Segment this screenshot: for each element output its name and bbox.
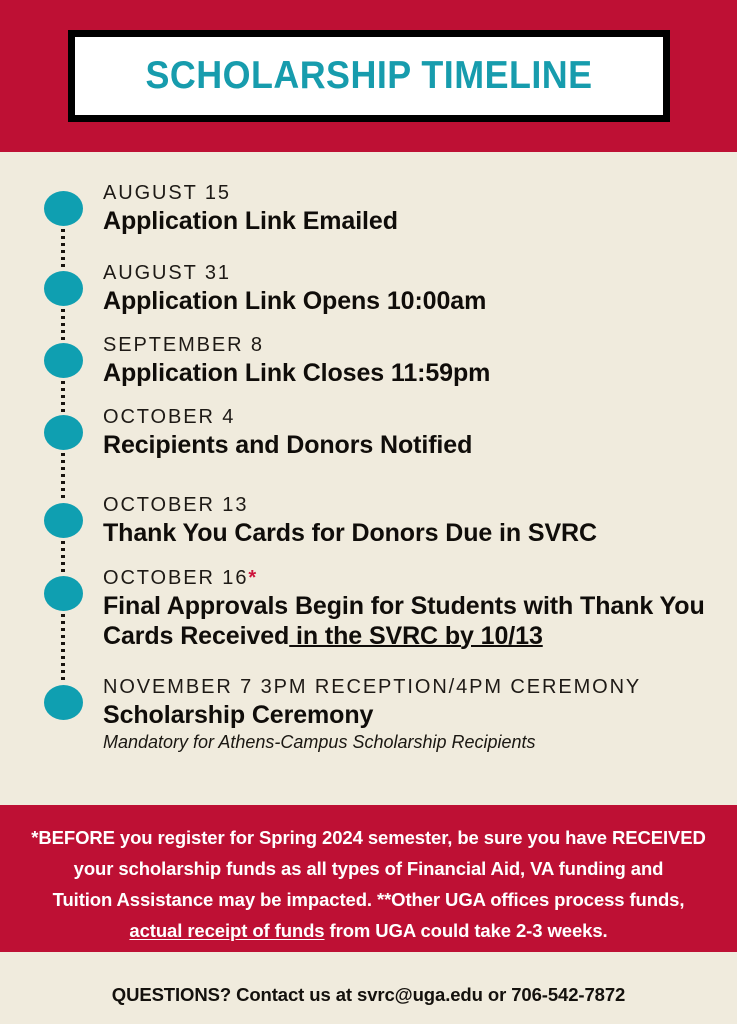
footnote-line-3: Tuition Assistance may be impacted. **Ot…: [26, 884, 711, 915]
timeline-item-title: Application Link Closes 11:59pm: [103, 358, 728, 388]
timeline-item-text: OCTOBER 4Recipients and Donors Notified: [103, 405, 728, 460]
timeline-date-asterisk: *: [248, 567, 256, 589]
timeline-item-text: NOVEMBER 7 3PM RECEPTION/4PM CEREMONYSch…: [103, 675, 728, 754]
timeline-item-title: Application Link Opens 10:00am: [103, 286, 728, 316]
timeline-item-text: OCTOBER 16*Final Approvals Begin for Stu…: [103, 566, 728, 651]
timeline-bullet-icon: [44, 685, 83, 720]
page-title: SCHOLARSHIP TIMELINE: [145, 54, 592, 98]
timeline-bullet-icon: [44, 415, 83, 450]
timeline-item-date: OCTOBER 4: [103, 405, 728, 430]
timeline-item-text: OCTOBER 13Thank You Cards for Donors Due…: [103, 493, 728, 548]
timeline-bullet-icon: [44, 503, 83, 538]
footnote-line-1: *BEFORE you register for Spring 2024 sem…: [26, 822, 711, 853]
footnote-line-4-rest: from UGA could take 2-3 weeks.: [325, 920, 608, 941]
timeline-item-text: SEPTEMBER 8Application Link Closes 11:59…: [103, 333, 728, 388]
timeline-item-date: AUGUST 31: [103, 261, 728, 286]
timeline-item-text: AUGUST 15Application Link Emailed: [103, 181, 728, 236]
timeline-list: AUGUST 15Application Link EmailedAUGUST …: [0, 152, 737, 805]
timeline-bullet-icon: [44, 191, 83, 226]
timeline-item-title: Recipients and Donors Notified: [103, 430, 728, 460]
timeline-connector: [61, 229, 65, 268]
timeline-connector: [61, 309, 65, 340]
footnote-block: *BEFORE you register for Spring 2024 sem…: [0, 805, 737, 952]
timeline-item-title: Thank You Cards for Donors Due in SVRC: [103, 518, 728, 548]
header-band: SCHOLARSHIP TIMELINE: [0, 0, 737, 152]
timeline-item-title-main: Scholarship Ceremony: [103, 701, 373, 729]
timeline-item-title-main: Application Link Emailed: [103, 207, 398, 235]
timeline-bullet-icon: [44, 576, 83, 611]
timeline-item-date: SEPTEMBER 8: [103, 333, 728, 358]
timeline-item-title: Final Approvals Begin for Students with …: [103, 591, 728, 651]
timeline-connector: [61, 614, 65, 682]
timeline-item-note: Mandatory for Athens-Campus Scholarship …: [103, 731, 728, 754]
contact-info: QUESTIONS? Contact us at svrc@uga.edu or…: [112, 984, 625, 1006]
timeline-item-title-main: Recipients and Donors Notified: [103, 431, 472, 459]
timeline-item-text: AUGUST 31Application Link Opens 10:00am: [103, 261, 728, 316]
timeline-item-date: NOVEMBER 7 3PM RECEPTION/4PM CEREMONY: [103, 675, 728, 700]
footnote-line-2: your scholarship funds as all types of F…: [26, 853, 711, 884]
timeline-item-title-main: Application Link Closes 11:59pm: [103, 359, 490, 387]
timeline-bullet-icon: [44, 271, 83, 306]
timeline-item-date: OCTOBER 13: [103, 493, 728, 518]
timeline-item-title: Application Link Emailed: [103, 206, 728, 236]
timeline-item-title: Scholarship Ceremony: [103, 700, 728, 730]
footnote-line-4: actual receipt of funds from UGA could t…: [26, 915, 711, 946]
timeline-connector: [61, 381, 65, 412]
timeline-item-title-underlined: in the SVRC by 10/13: [289, 622, 543, 650]
timeline-bullet-icon: [44, 343, 83, 378]
timeline-connector: [61, 541, 65, 573]
contact-bar: QUESTIONS? Contact us at svrc@uga.edu or…: [0, 952, 737, 1024]
timeline-item-title-main: Thank You Cards for Donors Due in SVRC: [103, 519, 597, 547]
timeline-item-date: OCTOBER 16*: [103, 566, 728, 591]
timeline-item-date: AUGUST 15: [103, 181, 728, 206]
footnote-underlined-phrase: actual receipt of funds: [129, 920, 324, 941]
page-title-box: SCHOLARSHIP TIMELINE: [68, 30, 670, 122]
timeline-connector: [61, 453, 65, 500]
timeline-item-title-main: Application Link Opens 10:00am: [103, 287, 486, 315]
timeline-date-suffix: 3PM RECEPTION/4PM CEREMONY: [253, 676, 641, 698]
